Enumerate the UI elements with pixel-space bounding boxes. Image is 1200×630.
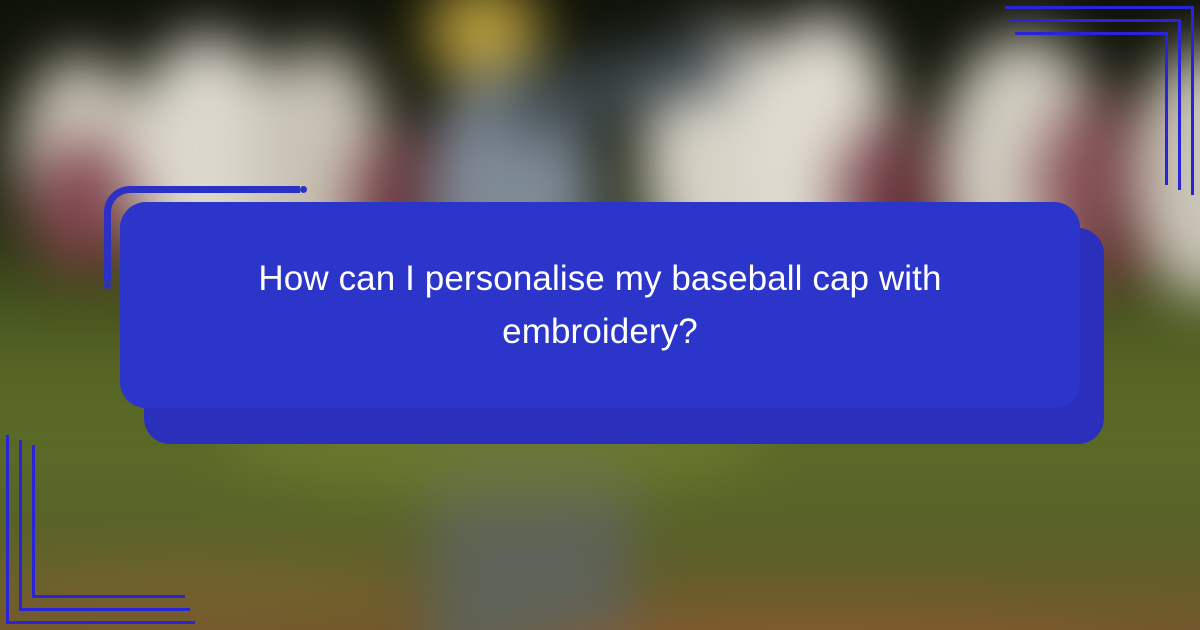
corner-bracket-top-right xyxy=(1000,0,1200,200)
question-text: How can I personalise my baseball cap wi… xyxy=(198,252,1002,358)
promo-card-canvas: How can I personalise my baseball cap wi… xyxy=(0,0,1200,630)
corner-bracket-bottom-left xyxy=(0,430,200,630)
corner-line-inner xyxy=(32,445,185,598)
corner-line-inner xyxy=(1015,32,1168,185)
question-headline: How can I personalise my baseball cap wi… xyxy=(120,202,1080,408)
